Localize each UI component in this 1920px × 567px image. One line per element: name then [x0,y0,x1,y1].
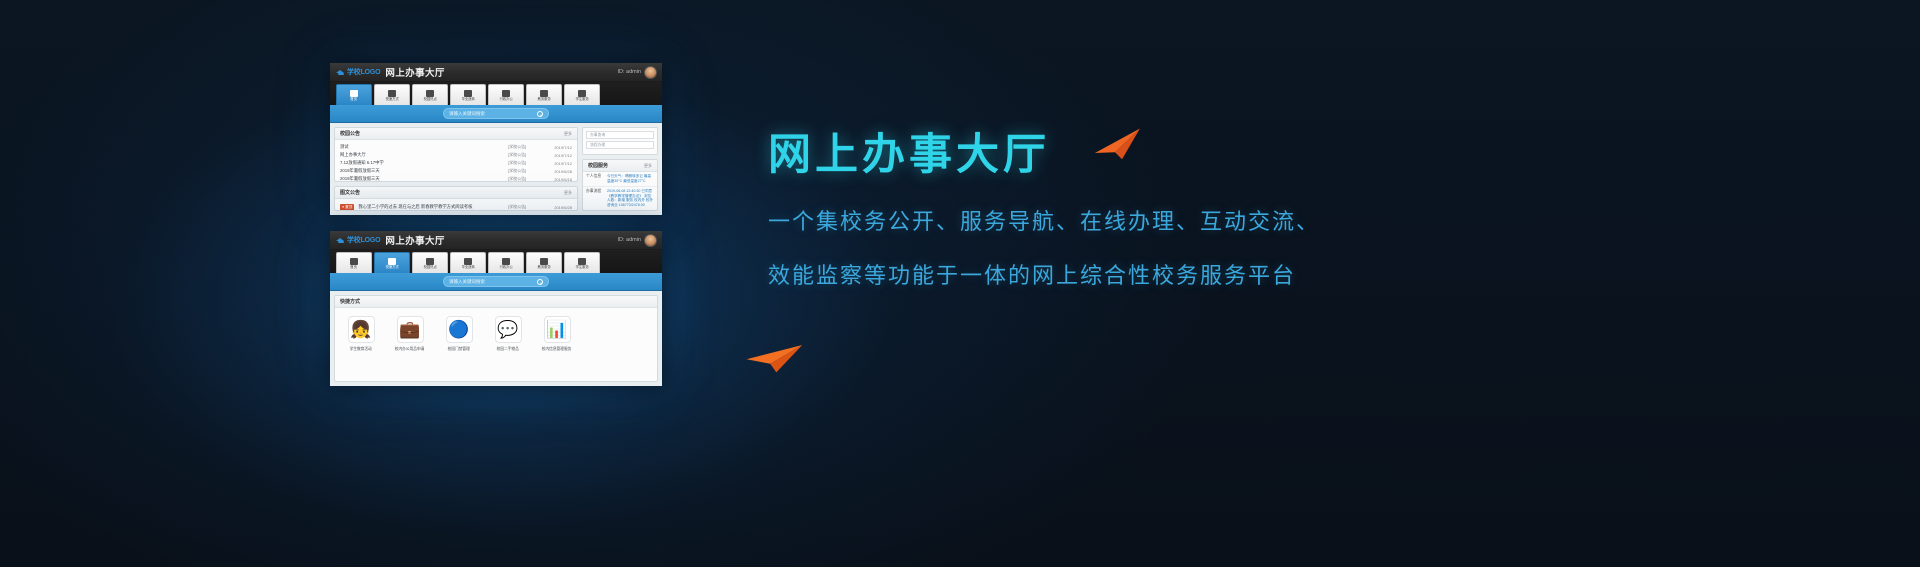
search-placeholder: 请输入关键词搜索 [449,111,536,117]
card-title: 校园服务 [588,162,608,169]
nav-tab-label: 校园热点 [423,266,436,269]
page-title: 网上办事大厅 [768,132,1668,179]
student-icon [578,90,586,97]
doc-date: 2019/6/28 [546,205,572,210]
list-item[interactable]: ● 置顶 我心里二小学的过去 现在与之后 新春教学教学方式阅读考核 [学校公告]… [340,202,572,211]
main-nav: 首页 快速方式 校园热点 毕业逐转 行政办公 教务服务 [330,250,662,273]
nav-tab-hotspot[interactable]: 校园热点 [412,84,448,105]
quick-access-label: 校园门禁管理 [448,346,470,352]
notice-card: 校园公告 更多 测试 [学校公告] 2019/7/12 网上办事大厅 [学校公告… [334,127,578,182]
nav-tab-admin[interactable]: 行政办公 [488,84,524,105]
info-row: 办事流程 2019-06-08 12:40:30 已同意《教学教学管理办法》 浏… [583,187,657,211]
list-item[interactable]: 2019年暑假放假三天 [学校公告] 2019/6/28 [340,167,572,175]
presentation-chart-icon: 📊 [544,316,571,343]
card-body: ● 置顶 我心里二小学的过去 现在与之后 新春教学教学方式阅读考核 [学校公告]… [335,199,577,211]
briefcase-icon: 💼 [397,316,424,343]
user-area[interactable]: ID: admin [617,234,657,247]
nav-tab-label: 快速方式 [385,266,398,269]
doc-tag: [学校公告] [508,204,542,210]
shortcut-icon [388,258,396,265]
app-title: 网上办事大厅 [385,233,444,247]
girl-student-icon: 👧 [348,316,375,343]
info-value: 2019-06-08 12:40:30 已同意《教学教学管理办法》 浏览人数：新… [607,189,654,208]
doc-card: 图文公告 更多 ● 置顶 我心里二小学的过去 现在与之后 新春教学教学方式阅读考… [334,186,578,211]
card-header: 图文公告 更多 [335,187,577,199]
notice-tag: [学校公告] [508,160,542,166]
nav-tab-service[interactable]: 教务服务 [526,252,562,273]
notice-date: 2019/7/12 [546,153,572,158]
search-placeholder: 请输入关键词搜索 [449,279,536,285]
more-link[interactable]: 更多 [644,163,652,169]
info-key: 办事流程 [586,189,604,208]
notice-tag: [学校公告] [508,176,542,182]
search-bar: 请输入关键词搜索 [330,273,662,291]
notice-text: 2019年暑假放假三天 [340,168,504,174]
search-input[interactable]: 请输入关键词搜索 [443,108,549,119]
user-id-label: ID: admin [617,69,641,75]
home-icon [350,90,358,97]
status-badge: ● 置顶 [340,204,354,211]
nav-tab-service[interactable]: 教务服务 [526,84,562,105]
graduate-icon [464,258,472,265]
app-title: 网上办事大厅 [385,65,444,79]
page-body: 校园公告 更多 测试 [学校公告] 2019/7/12 网上办事大厅 [学校公告… [330,123,662,215]
quick-access-label: 校内办公用品申请 [395,346,425,352]
nav-tab-label: 教务服务 [537,98,550,101]
list-item[interactable]: 测试 [学校公告] 2019/7/12 [340,143,572,151]
avatar[interactable] [644,234,657,247]
search-icon[interactable] [536,110,543,117]
notice-tag: [学校公告] [508,144,542,150]
doc-text: 我心里二小学的过去 现在与之后 新春教学教学方式阅读考核 [358,204,504,210]
quick-access-item-office-supplies[interactable]: 💼 校内办公用品申请 [390,316,430,352]
quick-access-label: 学生教育活动 [350,346,372,352]
nav-tab-graduate[interactable]: 毕业逐转 [450,252,486,273]
nav-tab-home[interactable]: 首页 [336,84,372,105]
side-search-card: 办事查询 流程办理 [582,127,658,155]
nav-tab-label: 行政办公 [499,98,512,101]
side-column: 办事查询 流程办理 校园服务 更多 个人信息 今日天气：晴朗转多云 最高温度30… [582,127,658,211]
promo-description-line-2: 效能监察等功能于一体的网上综合性校务服务平台 [768,259,1668,293]
quick-access-item-info-management[interactable]: 📊 校内信息管理服务 [537,316,577,352]
nav-tab-label: 首页 [351,266,358,269]
quick-access-label: 校内信息管理服务 [542,346,572,352]
list-item[interactable]: 2019年暑假放假三天 [学校公告] 2019/6/18 [340,175,572,182]
nav-tab-shortcut[interactable]: 快速方式 [374,84,410,105]
nav-tab-student[interactable]: 学生服务 [564,252,600,273]
promo-text-block: 网上办事大厅 一个集校务公开、服务导航、在线办理、互动交流、 效能监察等功能于一… [768,132,1668,293]
nav-tab-home[interactable]: 首页 [336,252,372,273]
notice-text: 测试 [340,144,504,150]
nav-tab-label: 校园热点 [423,98,436,101]
hotspot-icon [426,258,434,265]
side-info-card: 校园服务 更多 个人信息 今日天气：晴朗转多云 最高温度30°C 最低温度27°… [582,159,658,211]
service-icon [540,90,548,97]
nav-tab-label: 行政办公 [499,266,512,269]
service-icon [540,258,548,265]
nav-tab-hotspot[interactable]: 校园热点 [412,252,448,273]
wrench-icon [502,258,510,265]
page-body: 快捷方式 👧 学生教育活动 💼 校内办公用品申请 🔵 校园门禁管理 [330,291,662,386]
promo-description-line-1: 一个集校务公开、服务导航、在线办理、互动交流、 [768,205,1668,239]
chat-device-icon: 💬 [495,316,522,343]
main-column: 校园公告 更多 测试 [学校公告] 2019/7/12 网上办事大厅 [学校公告… [334,127,578,211]
orange-arrow-decoration-bottom [743,337,802,375]
screenshot-mockup-shortcuts: 学校LOGO 网上办事大厅 ID: admin 首页 快速方式 校园热点 [330,231,662,386]
app-titlebar: 学校LOGO 网上办事大厅 ID: admin [330,231,662,250]
search-input[interactable]: 请输入关键词搜索 [443,276,549,287]
user-area[interactable]: ID: admin [617,66,657,79]
quick-access-grid: 👧 学生教育活动 💼 校内办公用品申请 🔵 校园门禁管理 💬 校园二手物品 [335,308,657,356]
nav-tab-label: 快速方式 [385,98,398,101]
graduate-icon [464,90,472,97]
promo-banner: 学校LOGO 网上办事大厅 ID: admin 首页 快速方式 校园热点 [0,0,1920,567]
notice-date: 2019/7/12 [546,145,572,150]
more-link[interactable]: 更多 [564,190,572,196]
card-header: 校园公告 更多 [335,128,577,140]
notice-text: 2019年暑假放假三天 [340,176,504,182]
side-query-field-1[interactable]: 办事查询 [586,131,654,139]
shortcut-icon [388,90,396,97]
list-item[interactable]: 网上办事大厅 [学校公告] 2019/7/12 [340,151,572,159]
app-logo-text: 学校LOGO [347,235,380,245]
list-item[interactable]: 7.12放假通知 6.17中学 [学校公告] 2019/7/12 [340,159,572,167]
nav-tab-label: 毕业逐转 [461,266,474,269]
side-query-field-2[interactable]: 流程办理 [586,141,654,149]
nav-tab-student[interactable]: 学生服务 [564,84,600,105]
quick-access-card: 快捷方式 👧 学生教育活动 💼 校内办公用品申请 🔵 校园门禁管理 [334,295,658,382]
info-row: 个人信息 今日天气：晴朗转多云 最高温度30°C 最低温度27°C [583,172,657,187]
card-title: 快捷方式 [340,298,360,305]
quick-access-label: 校园二手物品 [497,346,519,352]
notice-tag: [学校公告] [508,168,542,174]
notice-text: 7.12放假通知 6.17中学 [340,160,504,166]
quick-access-item-secondhand[interactable]: 💬 校园二手物品 [488,316,528,352]
screenshot-mockup-home: 学校LOGO 网上办事大厅 ID: admin 首页 快速方式 校园热点 [330,63,662,215]
card-body: 测试 [学校公告] 2019/7/12 网上办事大厅 [学校公告] 2019/7… [335,140,577,182]
notice-tag: [学校公告] [508,152,542,158]
lock-person-icon: 🔵 [446,316,473,343]
info-value: 今日天气：晴朗转多云 最高温度30°C 最低温度27°C [607,174,654,184]
quick-access-item-access-control[interactable]: 🔵 校园门禁管理 [439,316,479,352]
nav-tab-shortcut[interactable]: 快速方式 [374,252,410,273]
nav-tab-label: 教务服务 [537,266,550,269]
notice-date: 2019/7/12 [546,161,572,166]
graduation-cap-icon [336,237,345,243]
main-nav: 首页 快速方式 校园热点 毕业逐转 行政办公 教务服务 [330,82,662,105]
notice-text: 网上办事大厅 [340,152,504,158]
card-header: 校园服务 更多 [583,160,657,172]
card-title: 图文公告 [340,189,360,196]
hotspot-icon [426,90,434,97]
search-icon[interactable] [536,278,543,285]
quick-access-item-student-activity[interactable]: 👧 学生教育活动 [341,316,381,352]
nav-tab-label: 学生服务 [575,266,588,269]
nav-tab-admin[interactable]: 行政办公 [488,252,524,273]
notice-date: 2019/6/28 [546,169,572,174]
info-key: 个人信息 [586,174,604,184]
app-titlebar: 学校LOGO 网上办事大厅 ID: admin [330,63,662,82]
notice-date: 2019/6/18 [546,177,572,182]
avatar[interactable] [644,66,657,79]
wrench-icon [502,90,510,97]
more-link[interactable]: 更多 [564,131,572,137]
nav-tab-label: 学生服务 [575,98,588,101]
card-header: 快捷方式 [335,296,657,308]
home-icon [350,258,358,265]
nav-tab-label: 毕业逐转 [461,98,474,101]
student-icon [578,258,586,265]
graduation-cap-icon [336,69,345,75]
nav-tab-graduate[interactable]: 毕业逐转 [450,84,486,105]
nav-tab-label: 首页 [351,98,358,101]
search-bar: 请输入关键词搜索 [330,105,662,123]
user-id-label: ID: admin [617,237,641,243]
app-logo-text: 学校LOGO [347,67,380,77]
card-title: 校园公告 [340,130,360,137]
